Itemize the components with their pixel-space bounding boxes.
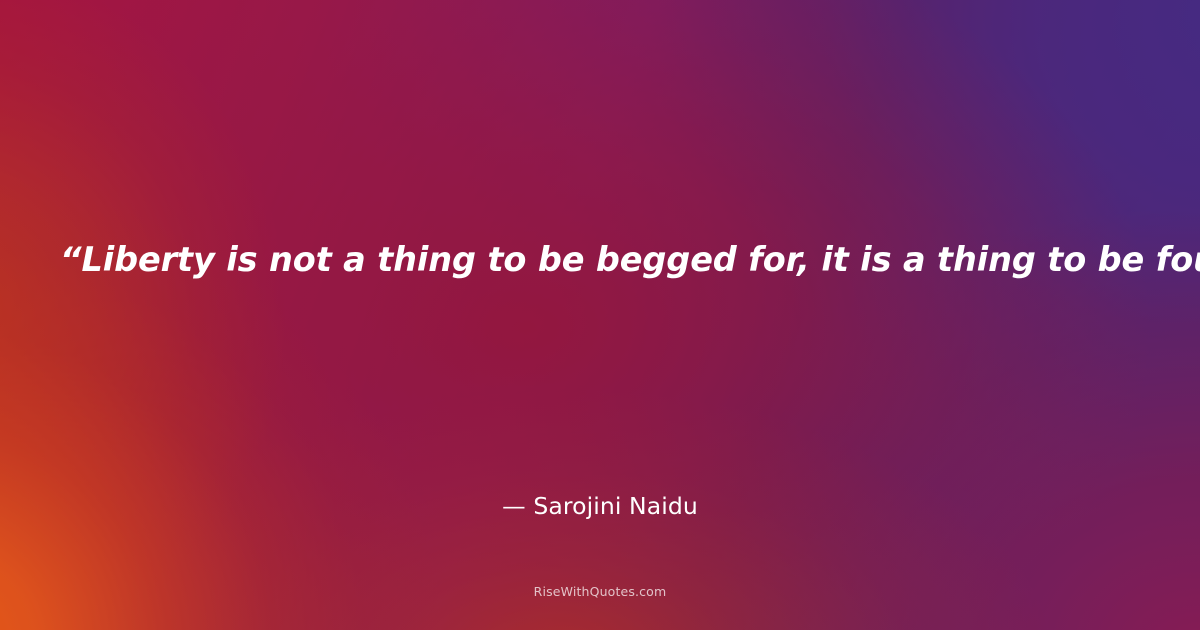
quote-author: — Sarojini Naidu bbox=[0, 492, 1200, 520]
quote-card: “Liberty is not a thing to be begged for… bbox=[0, 0, 1200, 630]
card-content: “Liberty is not a thing to be begged for… bbox=[0, 0, 1200, 630]
site-footer-watermark: RiseWithQuotes.com bbox=[0, 584, 1200, 599]
quote-text: “Liberty is not a thing to be begged for… bbox=[0, 238, 1200, 283]
